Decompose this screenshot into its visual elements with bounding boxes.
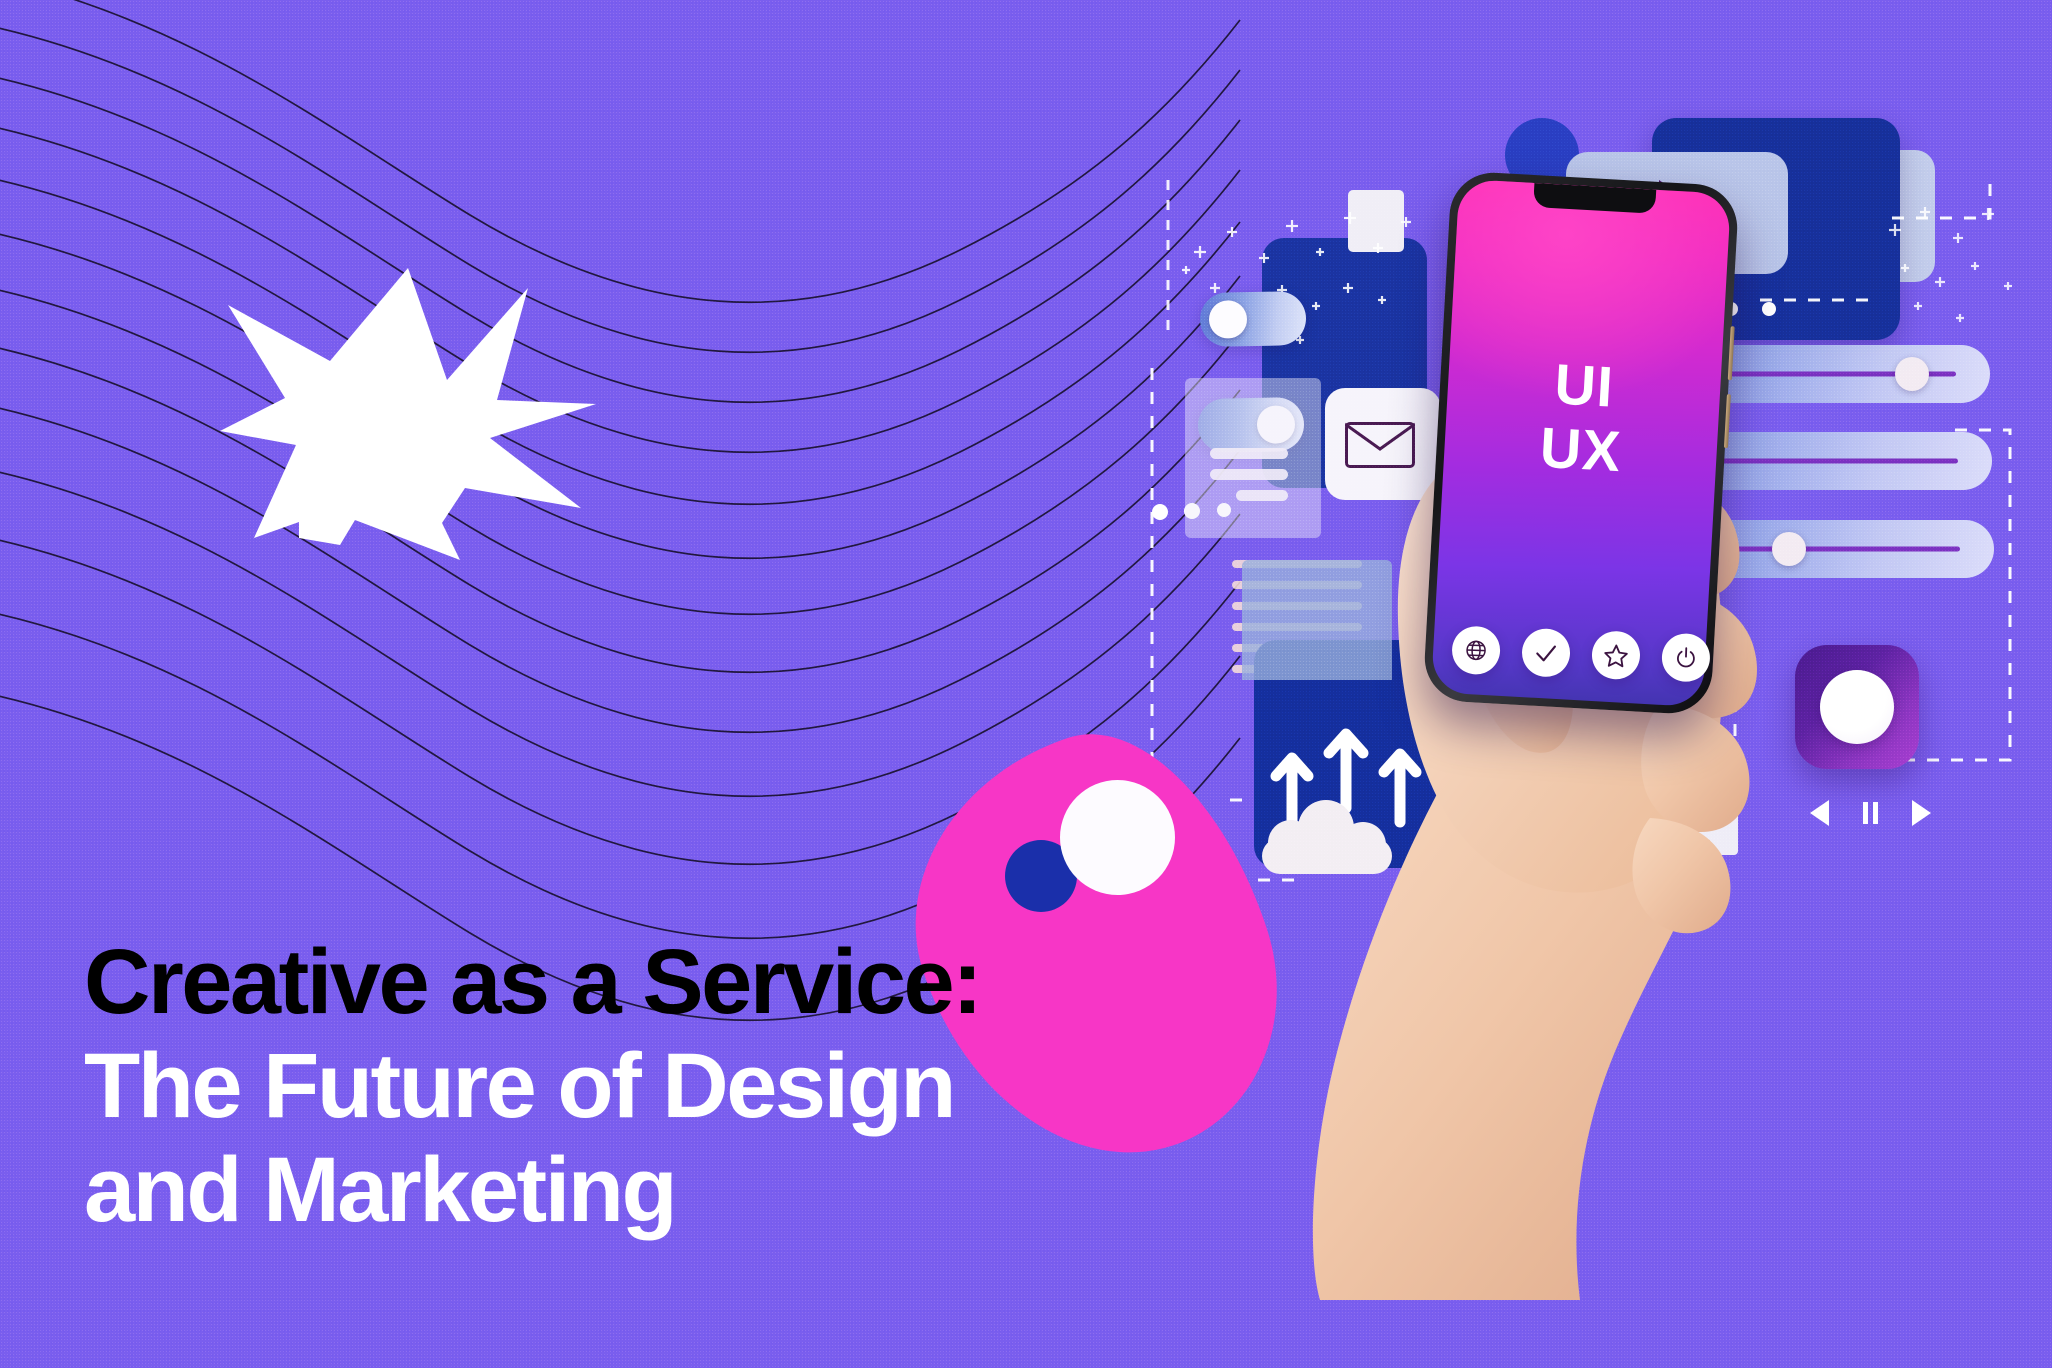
headline-line-3: and Marketing [84,1138,980,1242]
globe-icon[interactable] [1451,626,1501,676]
headline-line-2: The Future of Design [84,1034,980,1138]
star-icon[interactable] [1591,630,1641,680]
check-icon[interactable] [1521,628,1571,678]
headline-block: Creative as a Service: The Future of Des… [84,930,980,1242]
app-icon-row [1451,626,1711,683]
power-icon[interactable] [1661,633,1711,683]
headline-line-1: Creative as a Service: [84,930,980,1034]
hero-banner-canvas: UI UX [0,0,2052,1368]
phone-screen-text: UI UX [1443,347,1722,490]
